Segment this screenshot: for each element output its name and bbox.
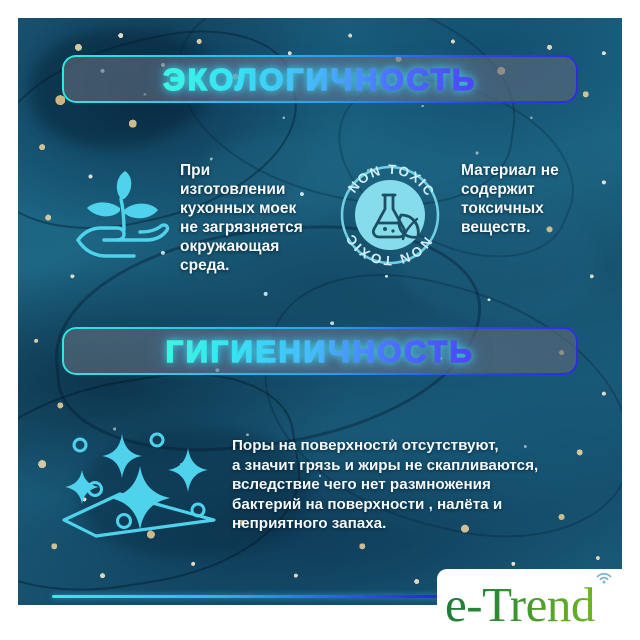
brand-logo-text: e-Trend: [445, 580, 595, 629]
poster-canvas: ЭКОЛОГИЧНОСТЬ При изготовлении кухонных …: [0, 0, 640, 640]
banner-title-hygiene: ГИГИЕНИЧНОСТЬ: [166, 334, 475, 369]
sparkle-clean-surface-icon: [62, 428, 218, 538]
neon-title-wrap: ГИГИЕНИЧНОСТЬ: [166, 336, 475, 367]
section-banner-eco: ЭКОЛОГИЧНОСТЬ: [62, 55, 578, 103]
eco-left-paragraph: При изготовлении кухонных моек не загряз…: [180, 161, 330, 275]
non-toxic-badge: NON TOXIC NON TOXIC: [338, 163, 442, 267]
eco-right-paragraph: Материал не содержит токсичных веществ.: [461, 161, 601, 237]
plant-in-hand-icon: [76, 166, 172, 264]
banner-title-eco: ЭКОЛОГИЧНОСТЬ: [163, 62, 477, 97]
section-banner-hygiene: ГИГИЕНИЧНОСТЬ: [62, 327, 578, 375]
brand-logo-panel: e-Trend: [437, 569, 640, 640]
wifi-arc-icon: [595, 571, 613, 584]
neon-title-wrap: ЭКОЛОГИЧНОСТЬ: [163, 64, 477, 95]
hygiene-paragraph: Поры на поверхности отсутствуют, а значи…: [232, 436, 584, 534]
bottom-gradient-rule: [52, 595, 440, 598]
